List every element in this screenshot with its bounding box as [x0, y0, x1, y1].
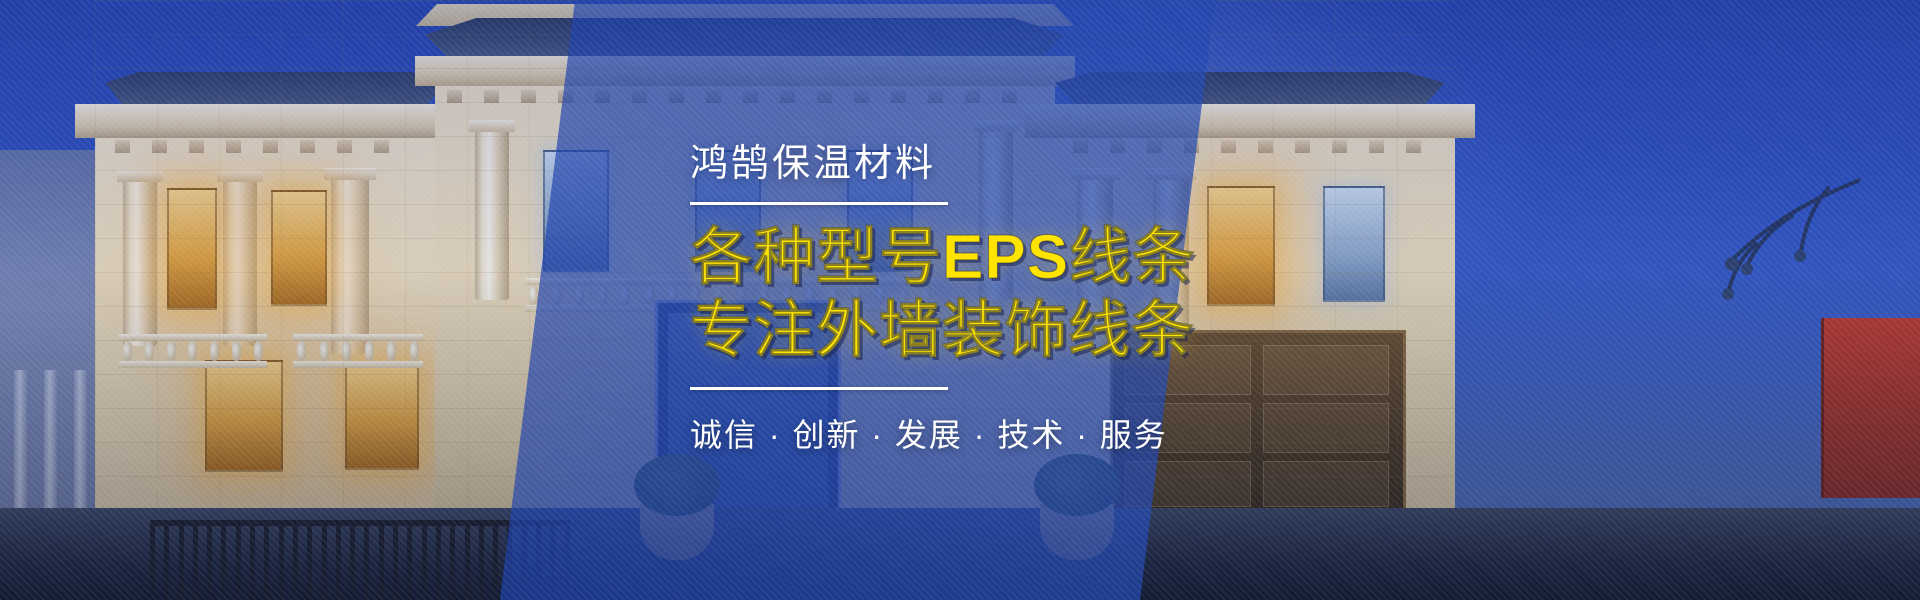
headline-line-1: 各种型号EPS线条: [690, 221, 1920, 294]
headline: 各种型号EPS线条 专注外墙装饰线条: [690, 221, 1920, 367]
headline-line-2: 专注外墙装饰线条: [690, 294, 1920, 367]
divider-top: [690, 202, 948, 205]
brand-name: 鸿鹄保温材料: [690, 144, 1920, 186]
tagline: 诚信 · 创新 · 发展 · 技术 · 服务: [690, 410, 1920, 456]
promo-banner: 鸿鹄保温材料 各种型号EPS线条 专注外墙装饰线条 诚信 · 创新 · 发展 ·…: [0, 0, 1920, 600]
divider-bottom: [690, 387, 948, 390]
banner-content: 鸿鹄保温材料 各种型号EPS线条 专注外墙装饰线条 诚信 · 创新 · 发展 ·…: [0, 0, 1920, 600]
